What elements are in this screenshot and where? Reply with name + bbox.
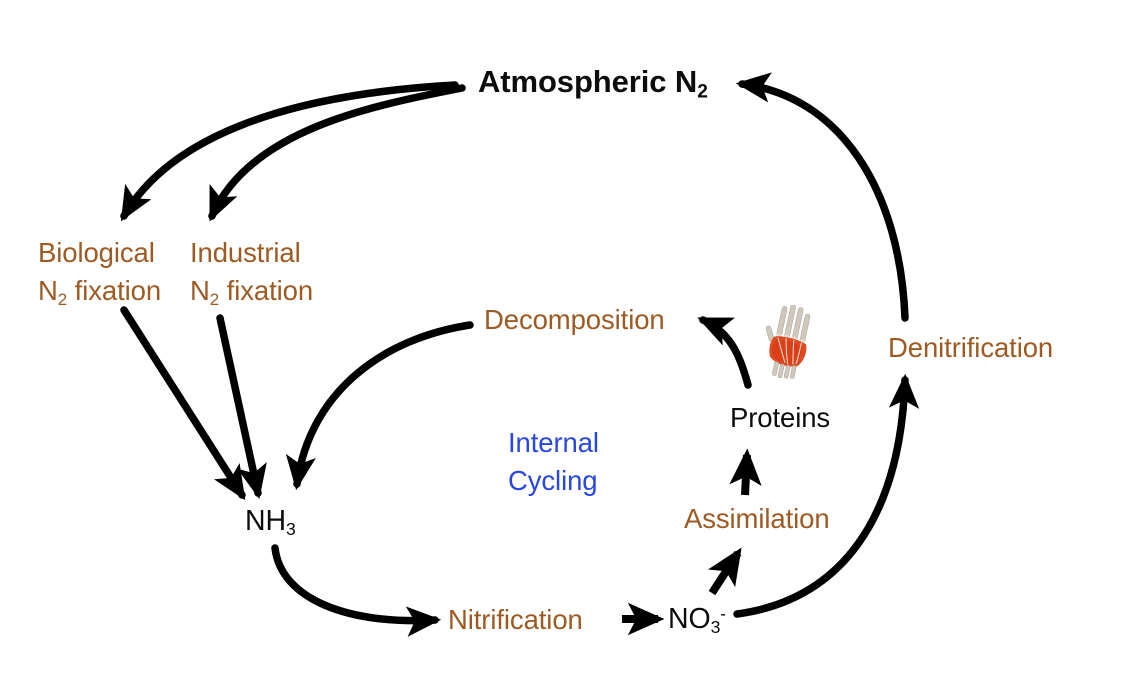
edge-assimilation-to-proteins: [745, 455, 747, 495]
biological-fixation-sub: 2: [58, 290, 67, 309]
node-assimilation: Assimilation: [684, 501, 830, 536]
node-denitrification: Denitrification: [888, 330, 1053, 365]
denitrification-label: Denitrification: [888, 332, 1053, 363]
nitrogen-cycle-diagram: Atmospheric N2 Biological N2 fixation In…: [0, 0, 1126, 686]
assimilation-label: Assimilation: [684, 503, 830, 534]
nitrate-label: NO: [668, 603, 711, 635]
node-nitrification: Nitrification: [448, 602, 583, 637]
node-atmospheric-n2: Atmospheric N2: [478, 62, 708, 105]
ammonia-subscript: 3: [286, 519, 296, 539]
edge-decomposition-to-ammonia: [297, 325, 470, 484]
node-proteins: Proteins: [730, 400, 830, 435]
node-biological-n2-fixation: Biological N2 fixation: [38, 234, 161, 311]
node-decomposition: Decomposition: [484, 302, 665, 337]
edge-nitrate-to-assimilation: [712, 553, 738, 593]
node-internal-cycling: Internal Cycling: [508, 424, 599, 500]
internal-cycling-line2: Cycling: [508, 462, 599, 500]
edge-denitrification-to-n2: [742, 84, 905, 318]
nitrate-subscript: 3: [711, 617, 721, 637]
edge-n2-to-industrial-fixation: [212, 88, 462, 216]
edge-proteins-to-decomposition: [703, 320, 748, 385]
atmospheric-n2-label: Atmospheric N: [478, 64, 697, 99]
biological-fixation-line1: Biological: [38, 234, 161, 272]
industrial-fixation-n: N: [190, 275, 210, 306]
node-ammonia: NH3: [245, 503, 296, 541]
industrial-fixation-rest: fixation: [219, 275, 313, 306]
industrial-fixation-line2: N2 fixation: [190, 272, 313, 311]
proteins-label: Proteins: [730, 402, 830, 433]
nitrate-superscript: -: [720, 604, 726, 623]
edge-n2-to-biological-fixation: [124, 85, 455, 216]
atmospheric-n2-subscript: 2: [697, 81, 708, 102]
node-nitrate: NO3-: [668, 601, 726, 639]
biological-fixation-line2: N2 fixation: [38, 272, 161, 311]
nitrification-label: Nitrification: [448, 604, 583, 635]
industrial-fixation-sub: 2: [210, 290, 219, 309]
internal-cycling-line1: Internal: [508, 424, 599, 462]
biological-fixation-n: N: [38, 275, 58, 306]
industrial-fixation-line1: Industrial: [190, 234, 313, 272]
biological-fixation-rest: fixation: [67, 275, 161, 306]
ammonia-label: NH: [245, 505, 286, 537]
node-industrial-n2-fixation: Industrial N2 fixation: [190, 234, 313, 311]
protein-hand-illustration: [763, 305, 825, 383]
edge-ammonia-to-nitrification: [275, 548, 435, 621]
decomposition-label: Decomposition: [484, 304, 665, 335]
